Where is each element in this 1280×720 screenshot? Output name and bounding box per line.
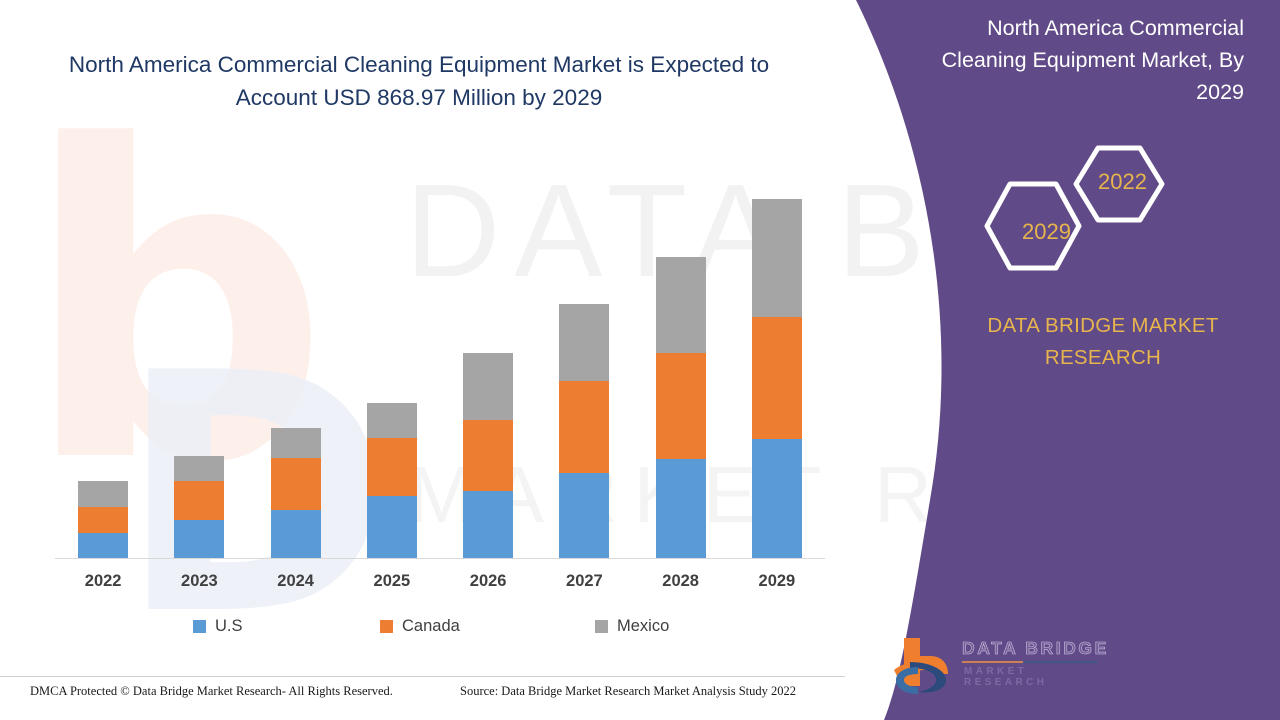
- bar-segment-canada-2028: [656, 353, 706, 459]
- bar-segment-mexico-2024: [271, 428, 321, 458]
- bar-segment-mexico-2022: [78, 481, 128, 507]
- hexagon-group: [980, 140, 1180, 280]
- bar-segment-mexico-2028: [656, 257, 706, 353]
- bar-2022: [78, 481, 128, 558]
- bar-segment-canada-2025: [367, 438, 417, 496]
- bar-segment-us-2027: [559, 473, 609, 558]
- bar-2025: [367, 403, 417, 558]
- legend-item-canada[interactable]: Canada: [380, 617, 460, 636]
- legend-label: Canada: [402, 617, 460, 636]
- logo-monogram-icon: [890, 634, 960, 696]
- x-tick-2022: 2022: [68, 572, 138, 591]
- bar-segment-canada-2023: [174, 481, 224, 520]
- legend-swatch-canada: [380, 620, 393, 633]
- logo-rule: [962, 661, 1098, 663]
- bar-segment-canada-2022: [78, 507, 128, 533]
- x-tick-2027: 2027: [549, 572, 619, 591]
- hexagon-label-2022: 2022: [1098, 169, 1147, 195]
- logo-text-primary: DATA BRIDGE: [962, 638, 1109, 659]
- x-tick-2025: 2025: [357, 572, 427, 591]
- legend-item-mexico[interactable]: Mexico: [595, 617, 669, 636]
- bar-segment-us-2022: [78, 533, 128, 558]
- bar-segment-us-2025: [367, 496, 417, 558]
- bar-2026: [463, 353, 513, 558]
- brand-name: DATA BRIDGE MARKET RESEARCH: [958, 310, 1248, 374]
- bar-segment-us-2029: [752, 439, 802, 558]
- bar-segment-mexico-2023: [174, 456, 224, 481]
- bar-segment-us-2026: [463, 491, 513, 558]
- bar-2027: [559, 304, 609, 558]
- company-logo: DATA BRIDGE MARKET RESEARCH: [890, 634, 1110, 702]
- x-tick-2029: 2029: [742, 572, 812, 591]
- bar-2028: [656, 257, 706, 558]
- dmca-notice: DMCA Protected © Data Bridge Market Rese…: [30, 684, 393, 699]
- legend-swatch-mexico: [595, 620, 608, 633]
- bar-segment-us-2028: [656, 459, 706, 558]
- stacked-bar-chart: [55, 186, 825, 559]
- infographic-canvas: b D DATA BRIDGE MARKET RESEARCH North Am…: [0, 0, 1280, 720]
- x-axis-tick-labels: 20222023202420252026202720282029: [55, 572, 825, 598]
- page-title: North America Commercial Cleaning Equipm…: [58, 48, 780, 114]
- bar-segment-canada-2027: [559, 381, 609, 473]
- bar-segment-canada-2026: [463, 420, 513, 491]
- source-note: Source: Data Bridge Market Research Mark…: [460, 684, 796, 699]
- bar-segment-mexico-2027: [559, 304, 609, 381]
- bar-segment-mexico-2025: [367, 403, 417, 438]
- legend-label: Mexico: [617, 617, 669, 636]
- bar-segment-canada-2024: [271, 458, 321, 510]
- bar-2029: [752, 199, 802, 558]
- bar-segment-us-2024: [271, 510, 321, 558]
- x-tick-2028: 2028: [646, 572, 716, 591]
- x-tick-2023: 2023: [164, 572, 234, 591]
- bar-segment-mexico-2029: [752, 199, 802, 317]
- bar-segment-us-2023: [174, 520, 224, 558]
- logo-text-secondary: MARKET RESEARCH: [964, 666, 1110, 688]
- bar-segment-canada-2029: [752, 317, 802, 439]
- legend-label: U.S: [215, 617, 243, 636]
- legend-item-us[interactable]: U.S: [193, 617, 243, 636]
- bar-segment-mexico-2026: [463, 353, 513, 420]
- legend-swatch-us: [193, 620, 206, 633]
- x-tick-2026: 2026: [453, 572, 523, 591]
- hexagon-label-2029: 2029: [1022, 219, 1071, 245]
- x-tick-2024: 2024: [261, 572, 331, 591]
- x-axis-line: [55, 558, 825, 559]
- footer-divider: [0, 676, 845, 677]
- chart-legend: U.SCanadaMexico: [55, 617, 755, 641]
- panel-title: North America Commercial Cleaning Equipm…: [924, 12, 1244, 108]
- bar-2023: [174, 456, 224, 558]
- bar-2024: [271, 428, 321, 558]
